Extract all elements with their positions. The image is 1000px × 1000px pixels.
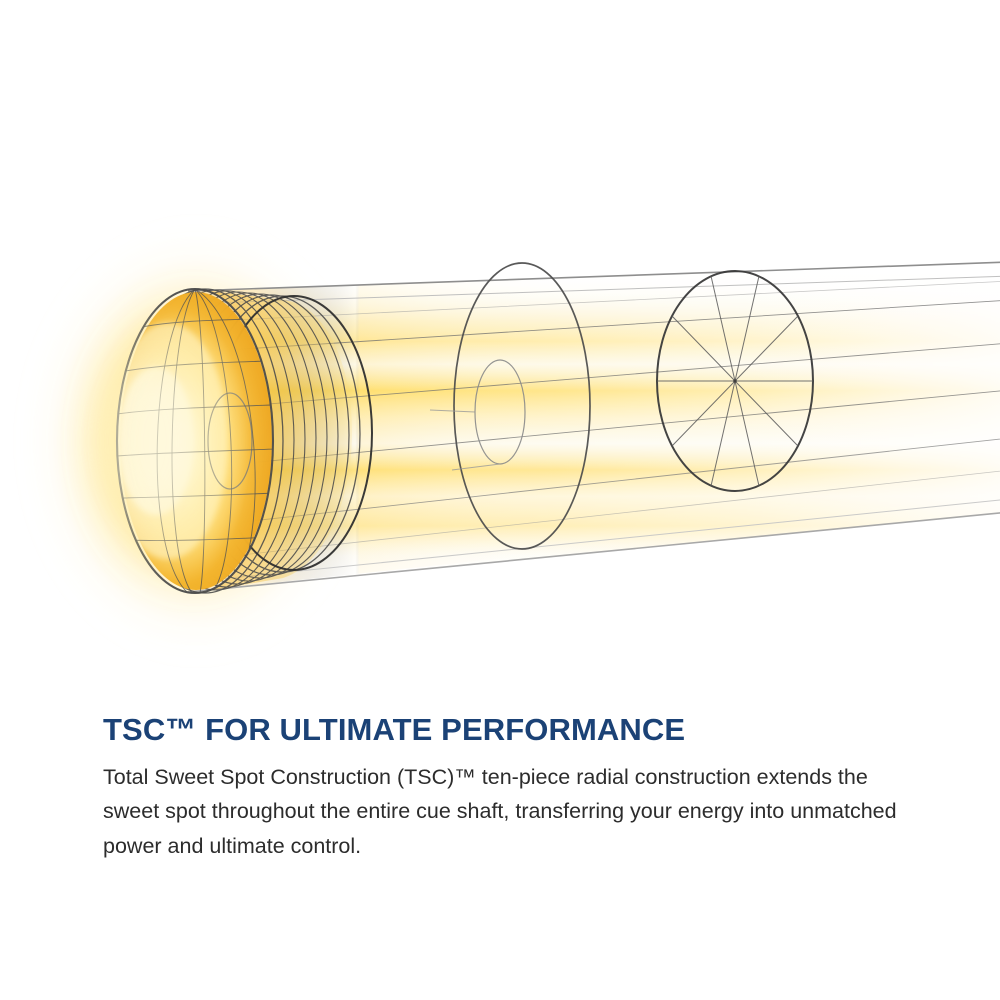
radial-wheel-hub xyxy=(733,379,737,383)
page-title: TSC™ FOR ULTIMATE PERFORMANCE xyxy=(103,712,923,748)
tip-bloom-overlay xyxy=(96,319,244,563)
cue-shaft-cutaway-diagram xyxy=(0,0,1000,700)
feature-copy-block: TSC™ FOR ULTIMATE PERFORMANCE Total Swee… xyxy=(103,712,923,864)
product-feature-panel: TSC™ FOR ULTIMATE PERFORMANCE Total Swee… xyxy=(0,0,1000,1000)
feature-description: Total Sweet Spot Construction (TSC)™ ten… xyxy=(103,760,903,864)
